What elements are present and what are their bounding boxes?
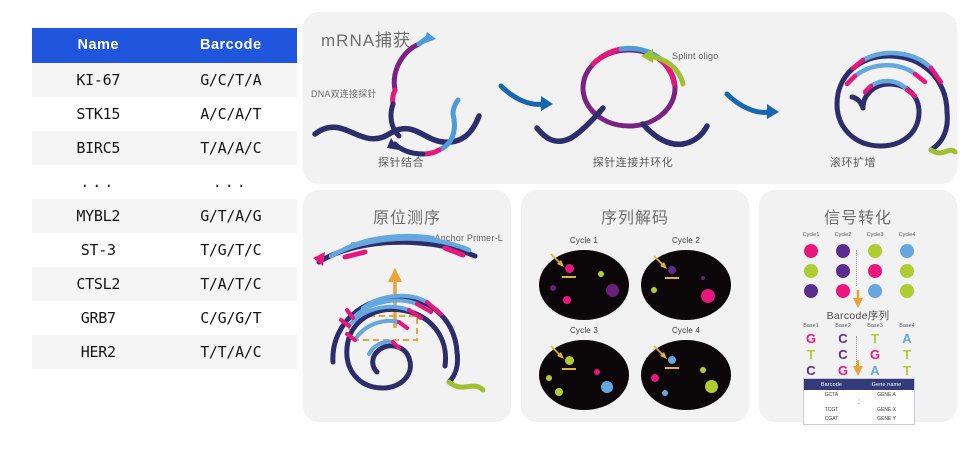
table-row: BIRC5T/A/A/C [32, 131, 297, 165]
table-row: KI-67G/C/T/A [32, 63, 297, 97]
cell-gene-name: BIRC5 [32, 131, 165, 165]
mrna-strand-1b [443, 116, 479, 142]
mini-cell: GCTA [804, 390, 859, 399]
cell-gene-name: GRB7 [32, 301, 165, 335]
mini-table-row: TCGTGENE X [804, 405, 914, 414]
barcode-base-letter: T [895, 363, 919, 378]
barcode-gene-table: BarcodeGene nameGCTAGENE A⋮TCGTGENE XCGA… [803, 378, 915, 425]
table-row: HER2T/T/A/C [32, 335, 297, 369]
transition-arrow-2 [727, 94, 769, 112]
mini-cell: CGAT [804, 414, 859, 423]
signal-base-header: Base3 [863, 323, 887, 329]
fluorescent-dot [651, 374, 659, 382]
mini-table-row: CGATGENE Y [804, 414, 914, 423]
dot-pointer-arrow [652, 344, 670, 360]
fluorescent-dot [546, 375, 553, 382]
barcode-base-letter: T [895, 347, 919, 362]
barcode-table: Name Barcode KI-67G/C/T/ASTK15A/C/A/TBIR… [32, 28, 297, 369]
fluorescent-dot [606, 284, 619, 297]
mrna-strand-2d [683, 126, 707, 144]
mini-cell: GENE A [859, 390, 914, 399]
signal-grid-dot [836, 284, 850, 298]
cell-barcode: G/C/T/A [165, 63, 298, 97]
cell-barcode: T/A/A/C [165, 131, 298, 165]
panel-signal-transformation: 信号转化 Cycle1Cycle2Cycle3Cycle4Base1Base2B… [759, 190, 957, 422]
mrna-strand-2b [537, 128, 571, 141]
barcode-base-letter: C [831, 347, 855, 362]
barcode-base-letter: C [799, 363, 823, 378]
cycle-label: Cycle 1 [554, 236, 614, 245]
fluorescent-dot [555, 388, 563, 396]
cycle-label: Cycle 4 [656, 326, 716, 335]
probe-arc-purple [394, 44, 419, 90]
mini-table-header: BarcodeGene name [804, 379, 914, 390]
cell-gene-name: CTSL2 [32, 267, 165, 301]
barcode-base-letter: G [831, 363, 855, 378]
table-row: MYBL2G/T/A/G [32, 199, 297, 233]
signal-grid-dot [836, 244, 850, 258]
cell-barcode: T/A/T/C [165, 267, 298, 301]
signal-base-header: Base1 [799, 323, 823, 329]
anchor-seg-pink-left [345, 252, 365, 257]
grid-dotted-divider [856, 336, 857, 370]
mini-cell: GENE X [859, 405, 914, 414]
table-row: ST-3T/G/T/C [32, 233, 297, 267]
mrna-strand-2c [643, 124, 683, 144]
transition-arrow-2-head [767, 104, 779, 119]
fluorescent-dot [701, 276, 706, 281]
in-situ-illustration [303, 190, 511, 422]
signal-grid-dot [804, 284, 818, 298]
table-row: STK15A/C/A/T [32, 97, 297, 131]
column-header-name: Name [32, 28, 165, 63]
table-body: KI-67G/C/T/ASTK15A/C/A/TBIRC5T/A/A/C....… [32, 63, 297, 369]
fluorescent-dot [662, 390, 669, 397]
barcode-base-letter: T [863, 331, 887, 346]
dot-pointer-arrow [652, 254, 670, 270]
cell-barcode: G/T/A/G [165, 199, 298, 233]
signal-cycle-header: Cycle1 [799, 232, 823, 238]
barcode-base-letter: G [799, 331, 823, 346]
grid-dotted-divider [856, 250, 857, 286]
barcode-base-letter: A [895, 331, 919, 346]
dot-underline-marker [562, 276, 576, 278]
zoom-arrow-head [388, 268, 402, 282]
signal-cycle-header: Cycle3 [863, 232, 887, 238]
panel-title-signal: 信号转化 [759, 204, 957, 228]
mrna-capture-illustration [303, 12, 957, 184]
cell-barcode: ... [165, 165, 298, 199]
transition-arrow-1-head [541, 96, 553, 111]
signal-grid-dot [868, 244, 882, 258]
cell-gene-name: STK15 [32, 97, 165, 131]
mini-col-header: Barcode [804, 379, 859, 390]
cell-gene-name: MYBL2 [32, 199, 165, 233]
barcode-base-letter: A [863, 363, 887, 378]
cell-gene-name: KI-67 [32, 63, 165, 97]
cell-barcode: T/G/T/C [165, 233, 298, 267]
mrna-strand-1 [315, 127, 443, 142]
probe-arc2-tip [453, 100, 458, 114]
cycle-label: Cycle 2 [656, 236, 716, 245]
probe-arc2-navy [395, 144, 423, 154]
signal-arrow-1-head [853, 298, 863, 308]
fluorescent-dot [598, 271, 604, 277]
cycle-field-of-view [539, 250, 629, 320]
transition-arrow-1 [501, 86, 543, 104]
fluorescent-dot [651, 287, 657, 293]
signal-grid-dot [804, 244, 818, 258]
diagram-root: Name Barcode KI-67G/C/T/ASTK15A/C/A/TBIR… [0, 0, 969, 452]
cycle-label: Cycle 3 [554, 326, 614, 335]
signal-grid-dot [868, 264, 882, 278]
fluorescent-dot [601, 381, 613, 393]
table-row: ...... [32, 165, 297, 199]
mini-table-row: GCTAGENE A [804, 390, 914, 399]
fluorescent-dot [594, 369, 600, 375]
fluorescent-dot [700, 367, 706, 373]
panel-title-decoding: 序列解码 [521, 204, 749, 228]
circle-seg-pink [593, 49, 621, 64]
dot-pointer-arrow [549, 252, 567, 268]
rolling-circle-spiral [837, 53, 955, 153]
cycle-field-of-view [539, 340, 629, 410]
signal-grid-dot [900, 244, 914, 258]
panel-sequence-decoding: 序列解码 Cycle 1Cycle 2Cycle 3Cycle 4 [521, 190, 749, 422]
dot-underline-marker [562, 368, 576, 370]
signal-grid-dot [836, 264, 850, 278]
mini-col-header: Gene name [859, 379, 914, 390]
table-header-row: Name Barcode [32, 28, 297, 63]
mini-cell: GENE Y [859, 414, 914, 423]
barcode-table-wrapper: Name Barcode KI-67G/C/T/ASTK15A/C/A/TBIR… [32, 28, 297, 369]
signal-grid-dot [868, 284, 882, 298]
fluorescent-dot [550, 285, 556, 291]
barcode-sequence-title: Barcode序列 [783, 308, 933, 323]
barcode-base-letter: G [863, 347, 887, 362]
dot-underline-marker [665, 367, 679, 369]
cell-gene-name: ... [32, 165, 165, 199]
dot-underline-marker [665, 277, 679, 279]
fluorescent-dot [705, 380, 718, 393]
panel-mrna-capture: mRNA捕获 DNA双连接探针 Splint oligo 探针结合 探针连接并环… [303, 12, 957, 184]
cell-gene-name: ST-3 [32, 233, 165, 267]
table-row: GRB7C/G/G/T [32, 301, 297, 335]
signal-grid-dot [804, 264, 818, 278]
fluorescent-dot [563, 296, 570, 303]
signal-grid-dot [900, 284, 914, 298]
cell-barcode: C/G/G/T [165, 301, 298, 335]
signal-grid-dot [900, 264, 914, 278]
barcode-base-letter: C [831, 331, 855, 346]
barcode-base-letter: T [799, 347, 823, 362]
cell-barcode: A/C/A/T [165, 97, 298, 131]
dot-pointer-arrow [549, 344, 567, 360]
table-row: CTSL2T/A/T/C [32, 267, 297, 301]
column-header-barcode: Barcode [165, 28, 298, 63]
panel-in-situ-sequencing: 原位测序 Anchor Primer-L G [303, 190, 511, 422]
signal-cycle-header: Cycle2 [831, 232, 855, 238]
signal-cycle-header: Cycle4 [895, 232, 919, 238]
amplicon-spiral [333, 296, 483, 390]
signal-base-header: Base2 [831, 323, 855, 329]
cycle-field-of-view [641, 250, 731, 320]
mini-cell: TCGT [804, 405, 859, 414]
cell-gene-name: HER2 [32, 335, 165, 369]
cell-barcode: T/T/A/C [165, 335, 298, 369]
signal-base-header: Base4 [895, 323, 919, 329]
fluorescent-dot [701, 289, 715, 303]
cycle-field-of-view [641, 340, 731, 410]
mrna-strand-2a [571, 108, 603, 138]
